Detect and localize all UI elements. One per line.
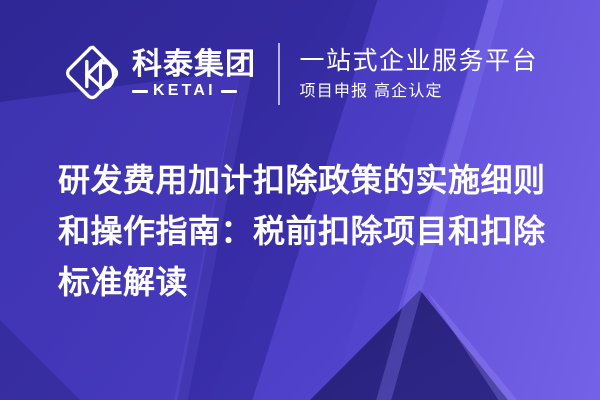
logo-wordmark: 科泰集团 KETAI: [132, 43, 256, 105]
tagline-secondary: 项目申报 高企认定: [300, 82, 539, 101]
ketai-logo-icon: [62, 43, 124, 105]
tagline-block: 一站式企业服务平台 项目申报 高企认定: [300, 42, 539, 106]
logo-dash-left-icon: [132, 90, 148, 93]
header-vertical-divider: [278, 43, 280, 105]
tagline-primary: 一站式企业服务平台: [300, 47, 539, 76]
diamond-kd-monogram-svg: [62, 43, 124, 105]
logo-company-name-cn: 科泰集团: [132, 49, 256, 81]
banner-header: 科泰集团 KETAI 一站式企业服务平台 项目申报 高企认定: [62, 38, 538, 110]
logo-company-name-en: KETAI: [153, 83, 216, 99]
page-title: 研发费用加计扣除政策的实施细则和操作指南：税前扣除项目和扣除标准解读: [58, 155, 566, 308]
banner-root: 科泰集团 KETAI 一站式企业服务平台 项目申报 高企认定 研发费用加计扣除政…: [0, 0, 600, 400]
logo-dash-right-icon: [221, 90, 237, 93]
logo-company-name-en-row: KETAI: [132, 83, 256, 99]
